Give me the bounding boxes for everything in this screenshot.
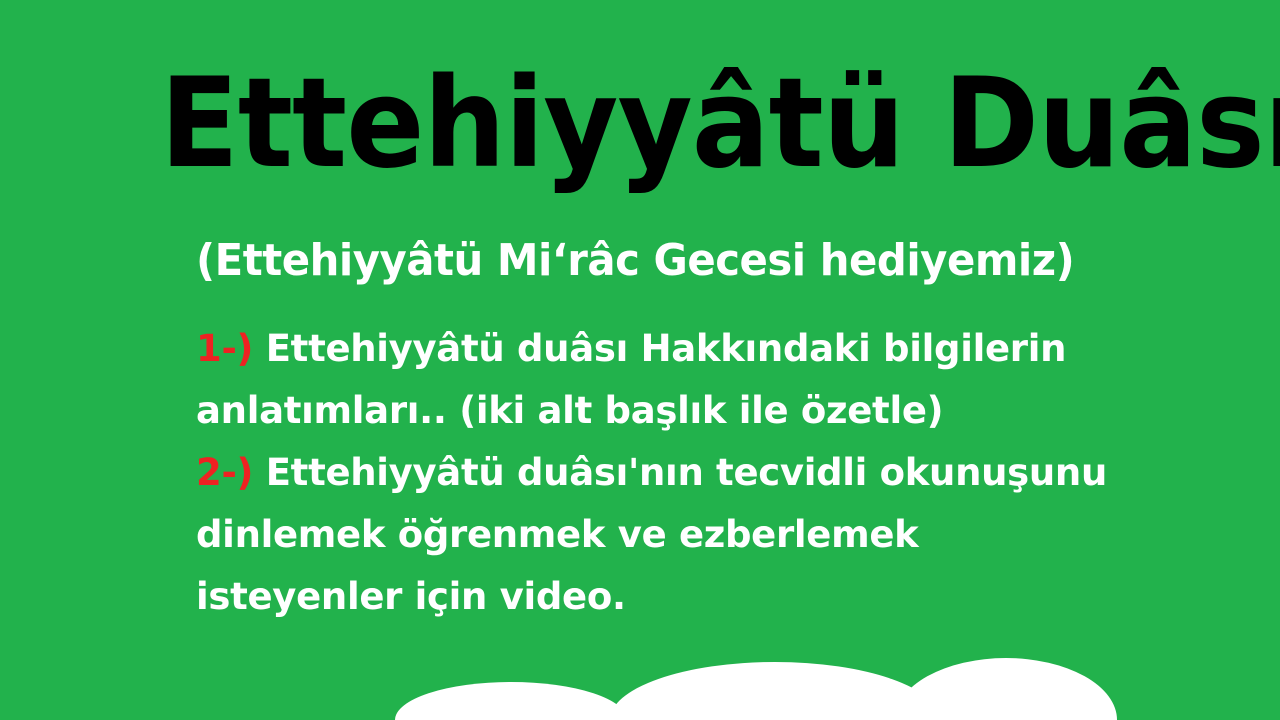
list-item-marker: 1-): [196, 327, 253, 370]
list-item: 2-) Ettehiyyâtü duâsı'nın tecvidli okunu…: [196, 442, 1126, 628]
poster-canvas: Ettehiyyâtü Duâsı (Ettehiyyâtü Mi‘râc Ge…: [0, 0, 1280, 720]
list-item-text: Ettehiyyâtü duâsı Hakkındaki bilgilerin …: [196, 327, 1066, 432]
white-arc-right: [895, 658, 1117, 720]
white-arc-center: [610, 662, 940, 720]
white-arc-left: [395, 682, 627, 720]
page-title: Ettehiyyâtü Duâsı: [160, 58, 1280, 192]
list-item: 1-) Ettehiyyâtü duâsı Hakkındaki bilgile…: [196, 318, 1126, 442]
list-item-text: Ettehiyyâtü duâsı'nın tecvidli okunuşunu…: [196, 451, 1107, 618]
body-list: 1-) Ettehiyyâtü duâsı Hakkındaki bilgile…: [196, 318, 1126, 628]
list-item-marker: 2-): [196, 451, 253, 494]
page-subtitle: (Ettehiyyâtü Mi‘râc Gecesi hediyemiz): [196, 236, 1074, 287]
